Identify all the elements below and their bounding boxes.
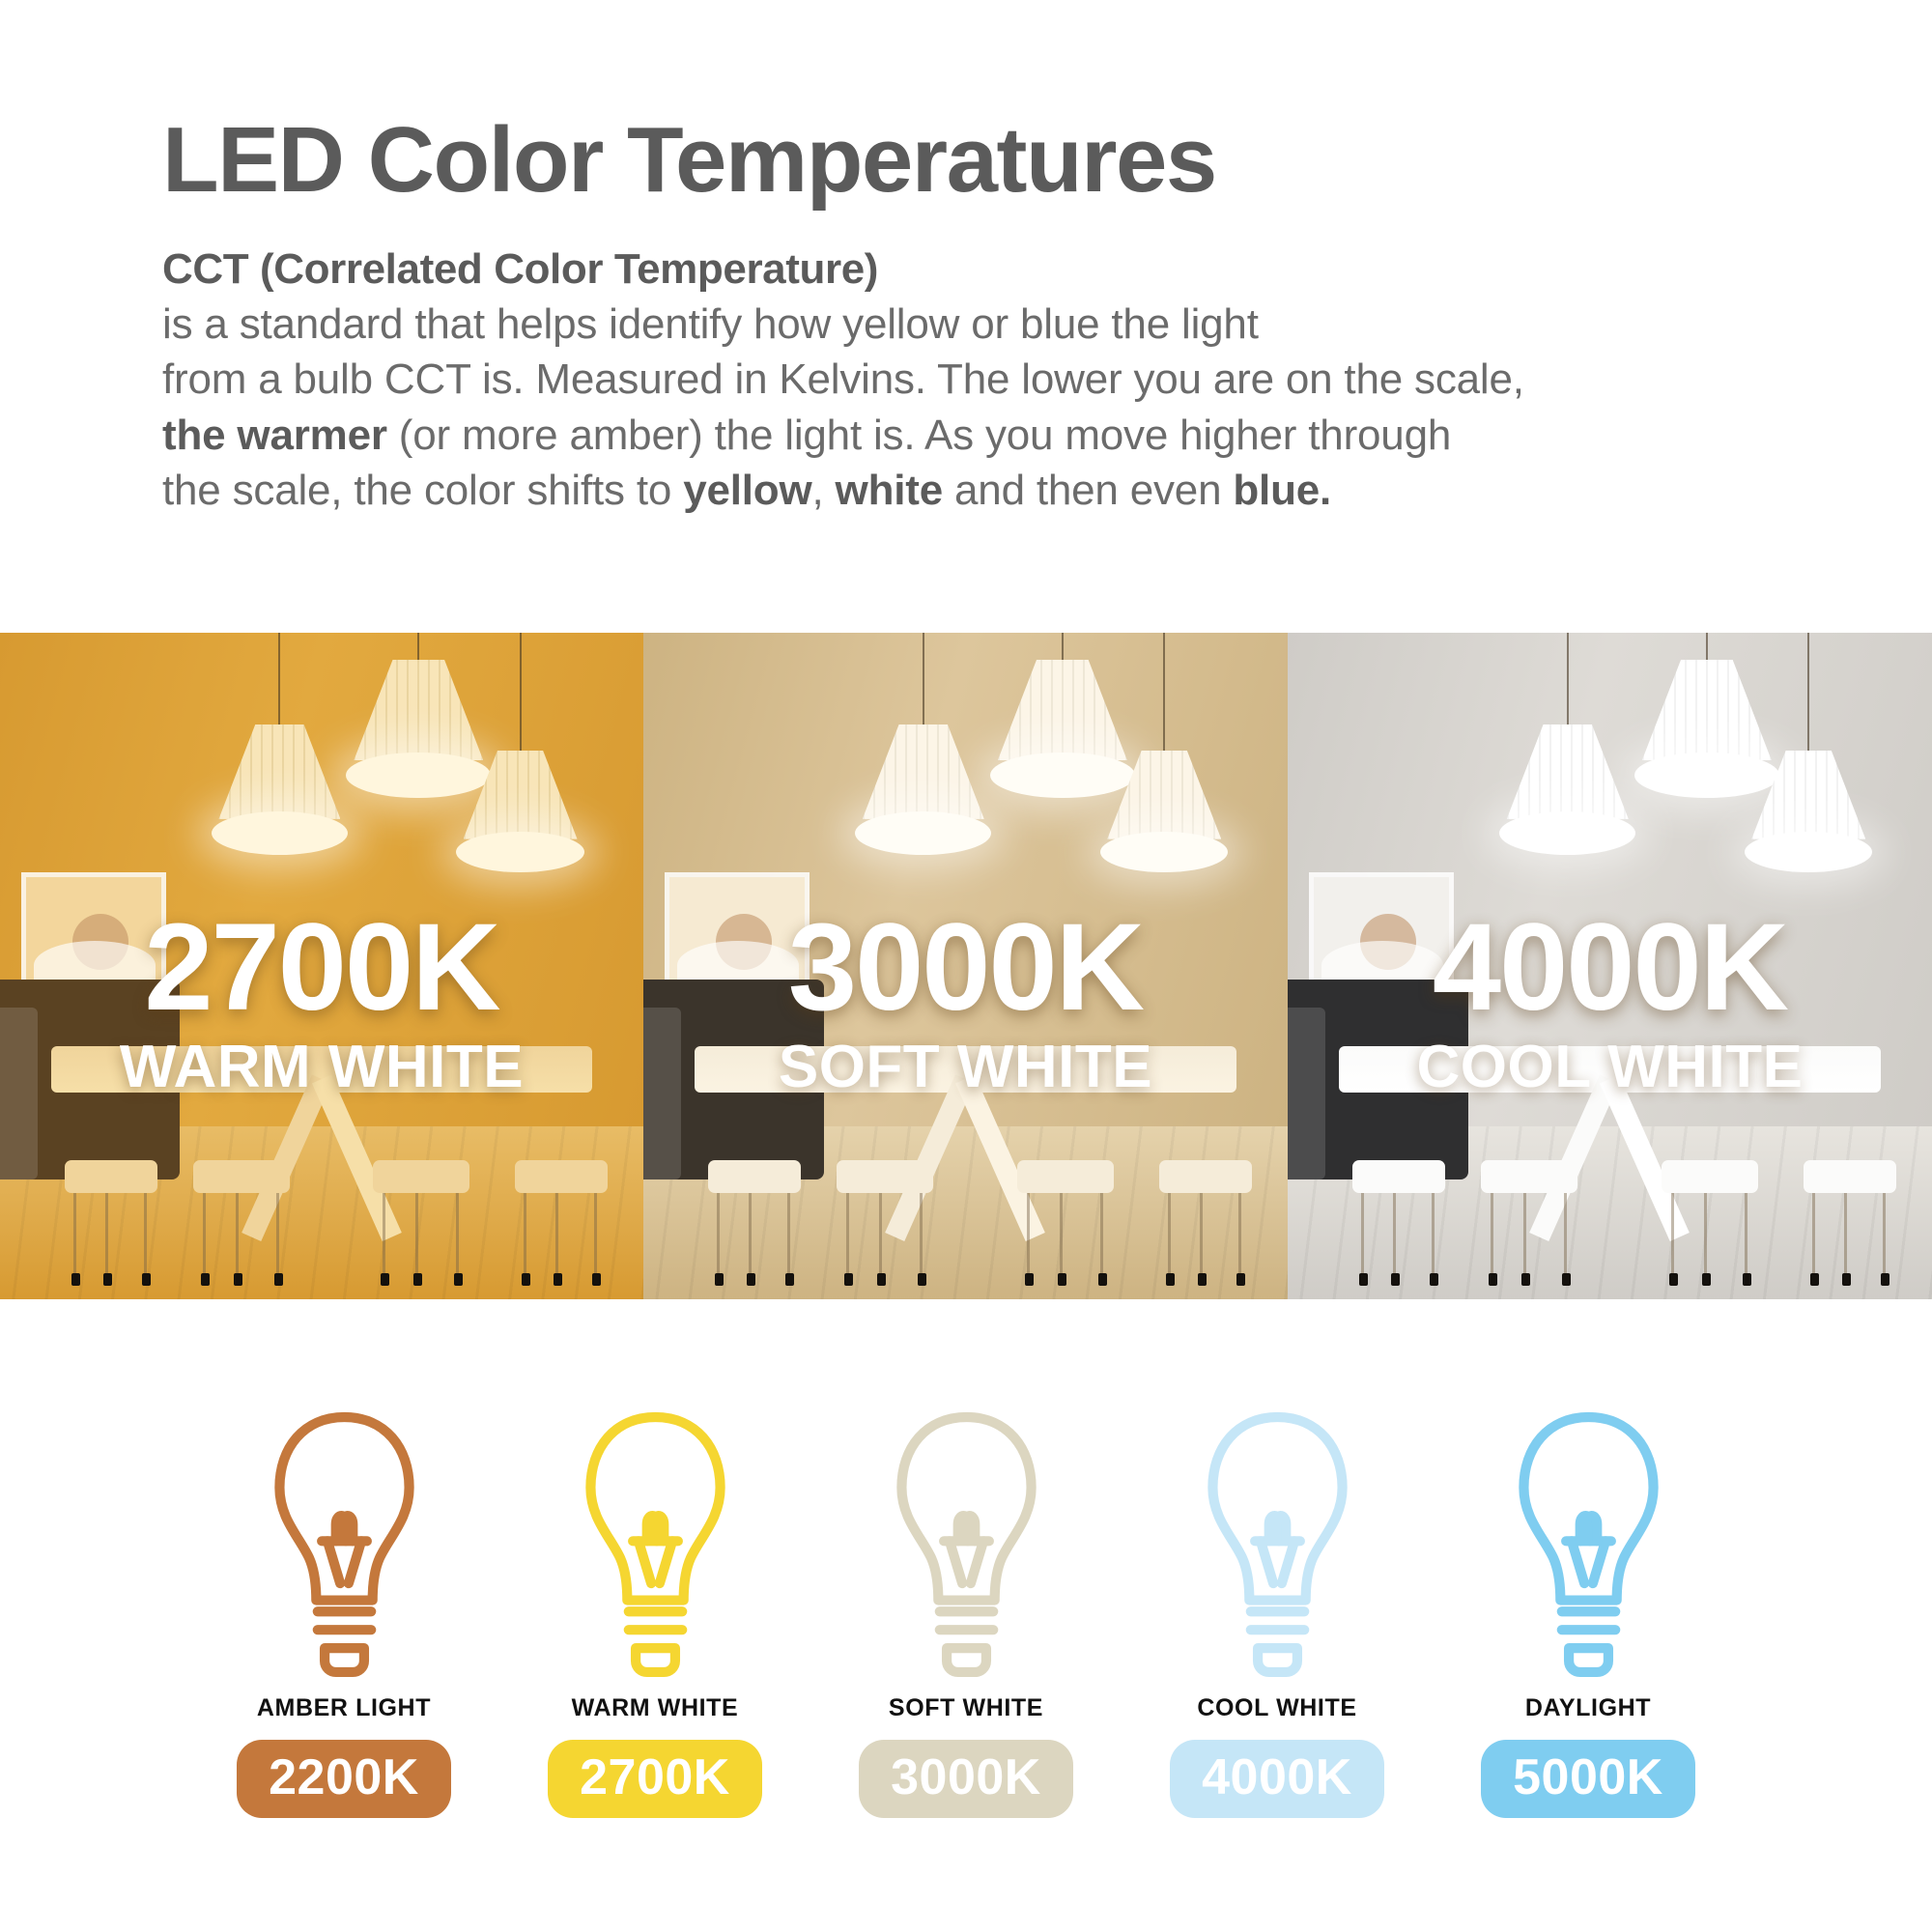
- pendant-lamp: [218, 724, 340, 852]
- chair-foot: [381, 1273, 389, 1286]
- chair-leg: [1100, 1193, 1103, 1286]
- chair-foot: [592, 1273, 601, 1286]
- framed-photo: [26, 877, 161, 983]
- lamp-shade: [863, 724, 984, 819]
- lamp-diffuser: [456, 832, 583, 872]
- bulb-scale-item-warm-white[interactable]: WARM WHITE 2700K: [524, 1406, 786, 1818]
- chair-foot: [1058, 1273, 1066, 1286]
- chair-leg: [383, 1193, 385, 1286]
- intro-line-4-c: ,: [811, 467, 835, 514]
- chair-leg: [1200, 1193, 1203, 1286]
- intro-emphasis-yellow: yellow: [683, 467, 811, 514]
- chair-leg: [1564, 1193, 1567, 1286]
- light-bulb-icon: [571, 1406, 740, 1681]
- lamp-diffuser: [1745, 832, 1872, 872]
- wall-picture-frame: [1309, 872, 1454, 988]
- bulb-label: WARM WHITE: [572, 1694, 739, 1722]
- sofa-arm: [1288, 1008, 1325, 1179]
- chair-leg: [144, 1193, 147, 1286]
- bulb-scale-item-cool-white[interactable]: COOL WHITE 4000K: [1146, 1406, 1408, 1818]
- lamp-cord: [923, 633, 924, 734]
- pendant-lamp: [1751, 751, 1865, 870]
- lamp-diffuser: [1499, 811, 1635, 855]
- chair-foot: [1743, 1273, 1751, 1286]
- dining-chair: [1017, 1160, 1114, 1286]
- wall-picture-frame: [21, 872, 166, 988]
- chair-foot: [234, 1273, 242, 1286]
- lamp-cord: [520, 633, 522, 760]
- chair-leg: [594, 1193, 597, 1286]
- dining-chair: [708, 1160, 801, 1286]
- room-scene-2700k: [0, 633, 643, 1299]
- dining-chair: [1804, 1160, 1896, 1286]
- dining-chair: [837, 1160, 933, 1286]
- kelvin-pill[interactable]: 3000K: [859, 1740, 1073, 1818]
- chair-foot: [103, 1273, 112, 1286]
- chair-foot: [1198, 1273, 1207, 1286]
- light-bulb-icon: [1504, 1406, 1673, 1681]
- dining-chair: [65, 1160, 157, 1286]
- chair-foot: [1489, 1273, 1497, 1286]
- lamp-cord: [1163, 633, 1165, 760]
- chair-leg: [1671, 1193, 1674, 1286]
- lamp-shade: [998, 660, 1127, 760]
- chair-leg: [1393, 1193, 1396, 1286]
- bulb-scale-item-amber-light[interactable]: AMBER LIGHT 2200K: [213, 1406, 475, 1818]
- chair-foot: [1430, 1273, 1438, 1286]
- header: LED Color Temperatures CCT (Correlated C…: [162, 114, 1882, 518]
- intro-line-3: the warmer (or more amber) the light is.…: [162, 408, 1882, 463]
- chair-foot: [201, 1273, 210, 1286]
- room-scene-4000k: [1288, 633, 1932, 1299]
- chair-seat: [708, 1160, 801, 1193]
- pendant-lamp: [863, 724, 984, 852]
- chair-leg: [787, 1193, 790, 1286]
- intro-line-4-a: the scale, the color shifts to: [162, 467, 683, 514]
- framed-photo: [669, 877, 805, 983]
- chair-leg: [73, 1193, 76, 1286]
- lamp-diffuser: [1100, 832, 1228, 872]
- chair-leg: [236, 1193, 239, 1286]
- kelvin-pill[interactable]: 4000K: [1170, 1740, 1384, 1818]
- chair-foot: [554, 1273, 562, 1286]
- dining-chair: [193, 1160, 290, 1286]
- chair-foot: [877, 1273, 886, 1286]
- chair-leg: [1844, 1193, 1847, 1286]
- chair-seat: [65, 1160, 157, 1193]
- chair-foot: [715, 1273, 724, 1286]
- intro-line-4-e: and then even: [943, 467, 1233, 514]
- lamp-diffuser: [212, 811, 348, 855]
- dining-chair: [515, 1160, 608, 1286]
- bulb-scale-item-daylight[interactable]: DAYLIGHT 5000K: [1457, 1406, 1719, 1818]
- chair-leg: [879, 1193, 882, 1286]
- chair-foot: [1236, 1273, 1245, 1286]
- intro-paragraph: CCT (Correlated Color Temperature) is a …: [162, 241, 1882, 518]
- chair-foot: [454, 1273, 463, 1286]
- chair-foot: [142, 1273, 151, 1286]
- lamp-shade: [1642, 660, 1772, 760]
- intro-emphasis-blue: blue.: [1233, 467, 1331, 514]
- lamp-shade: [354, 660, 483, 760]
- chair-leg: [524, 1193, 526, 1286]
- pendant-lamp: [1507, 724, 1629, 852]
- chair-leg: [1745, 1193, 1747, 1286]
- chair-foot: [1359, 1273, 1368, 1286]
- chair-seat: [193, 1160, 290, 1193]
- light-bulb-icon: [1193, 1406, 1362, 1681]
- lamp-shade: [1751, 751, 1865, 839]
- chair-leg: [846, 1193, 849, 1286]
- intro-subtitle: CCT (Correlated Color Temperature): [162, 241, 1882, 297]
- bulb-temperature-scale: AMBER LIGHT 2200K WARM WHITE 2700K SOFT …: [0, 1406, 1932, 1818]
- wall-picture-frame: [665, 872, 810, 988]
- bulb-label: AMBER LIGHT: [257, 1694, 431, 1722]
- light-bulb-icon: [882, 1406, 1051, 1681]
- chair-foot: [71, 1273, 80, 1286]
- chair-leg: [920, 1193, 923, 1286]
- dining-chair: [1662, 1160, 1758, 1286]
- chair-foot: [1166, 1273, 1175, 1286]
- pendant-lamp: [1107, 751, 1221, 870]
- lamp-shade: [1507, 724, 1629, 819]
- chair-leg: [1523, 1193, 1526, 1286]
- intro-emphasis-warmer: the warmer: [162, 412, 387, 459]
- chair-foot: [522, 1273, 530, 1286]
- chair-seat: [515, 1160, 608, 1193]
- chair-seat: [373, 1160, 469, 1193]
- chair-foot: [1881, 1273, 1889, 1286]
- chair-seat: [1804, 1160, 1896, 1193]
- lamp-shade: [1107, 751, 1221, 839]
- intro-emphasis-white: white: [836, 467, 943, 514]
- chair-leg: [1812, 1193, 1815, 1286]
- chair-leg: [1168, 1193, 1171, 1286]
- dining-chair: [373, 1160, 469, 1286]
- lamp-shade: [218, 724, 340, 819]
- intro-line-1: is a standard that helps identify how ye…: [162, 297, 1882, 352]
- chair-foot: [1669, 1273, 1678, 1286]
- kelvin-pill[interactable]: 2200K: [237, 1740, 451, 1818]
- lamp-shade: [464, 751, 578, 839]
- intro-line-3-rest: (or more amber) the light is. As you mov…: [387, 412, 1451, 459]
- chair-leg: [1027, 1193, 1030, 1286]
- chair-foot: [1842, 1273, 1851, 1286]
- photo-panel-4000k: 4000K COOL WHITE: [1288, 633, 1932, 1299]
- chair-foot: [844, 1273, 853, 1286]
- lamp-cord: [1807, 633, 1809, 760]
- chair-leg: [555, 1193, 558, 1286]
- kelvin-pill[interactable]: 2700K: [548, 1740, 762, 1818]
- chair-foot: [785, 1273, 794, 1286]
- dining-chair: [1481, 1160, 1577, 1286]
- chair-foot: [274, 1273, 283, 1286]
- chair-foot: [1391, 1273, 1400, 1286]
- chair-leg: [1883, 1193, 1886, 1286]
- intro-line-4: the scale, the color shifts to yellow, w…: [162, 463, 1882, 518]
- lamp-cord: [278, 633, 280, 734]
- chair-leg: [1238, 1193, 1241, 1286]
- sofa-arm: [643, 1008, 681, 1179]
- chair-foot: [1521, 1273, 1530, 1286]
- chair-leg: [105, 1193, 108, 1286]
- chair-leg: [456, 1193, 459, 1286]
- chair-leg: [203, 1193, 206, 1286]
- chair-leg: [717, 1193, 720, 1286]
- bulb-scale-item-soft-white[interactable]: SOFT WHITE 3000K: [835, 1406, 1097, 1818]
- chair-leg: [1060, 1193, 1063, 1286]
- kelvin-pill[interactable]: 5000K: [1481, 1740, 1695, 1818]
- chair-foot: [1810, 1273, 1819, 1286]
- intro-line-2: from a bulb CCT is. Measured in Kelvins.…: [162, 352, 1882, 407]
- photo-comparison-band: 2700K WARM WHITE 3000K SOFT WHITE 4000K …: [0, 633, 1932, 1299]
- chair-seat: [1662, 1160, 1758, 1193]
- chair-leg: [1361, 1193, 1364, 1286]
- chair-leg: [1704, 1193, 1707, 1286]
- lamp-diffuser: [855, 811, 991, 855]
- chair-seat: [1017, 1160, 1114, 1193]
- chair-leg: [749, 1193, 752, 1286]
- dining-chair: [1352, 1160, 1445, 1286]
- page-title: LED Color Temperatures: [162, 114, 1882, 207]
- chair-foot: [1702, 1273, 1711, 1286]
- lamp-cord: [1567, 633, 1569, 734]
- sofa-arm: [0, 1008, 38, 1179]
- chair-foot: [1025, 1273, 1034, 1286]
- chair-seat: [837, 1160, 933, 1193]
- photo-panel-2700k: 2700K WARM WHITE: [0, 633, 643, 1299]
- chair-leg: [1491, 1193, 1493, 1286]
- bulb-label: COOL WHITE: [1197, 1694, 1356, 1722]
- light-bulb-icon: [260, 1406, 429, 1681]
- bulb-label: SOFT WHITE: [889, 1694, 1043, 1722]
- chair-leg: [1432, 1193, 1435, 1286]
- chair-foot: [413, 1273, 422, 1286]
- chair-foot: [1098, 1273, 1107, 1286]
- bulb-label: DAYLIGHT: [1525, 1694, 1651, 1722]
- room-scene-3000k: [643, 633, 1288, 1299]
- chair-leg: [415, 1193, 418, 1286]
- chair-foot: [747, 1273, 755, 1286]
- dining-chair: [1159, 1160, 1252, 1286]
- chair-leg: [276, 1193, 279, 1286]
- pendant-lamp: [464, 751, 578, 870]
- chair-seat: [1352, 1160, 1445, 1193]
- chair-foot: [918, 1273, 926, 1286]
- photo-panel-3000k: 3000K SOFT WHITE: [643, 633, 1288, 1299]
- framed-photo: [1314, 877, 1449, 983]
- chair-seat: [1159, 1160, 1252, 1193]
- chair-seat: [1481, 1160, 1577, 1193]
- chair-foot: [1562, 1273, 1571, 1286]
